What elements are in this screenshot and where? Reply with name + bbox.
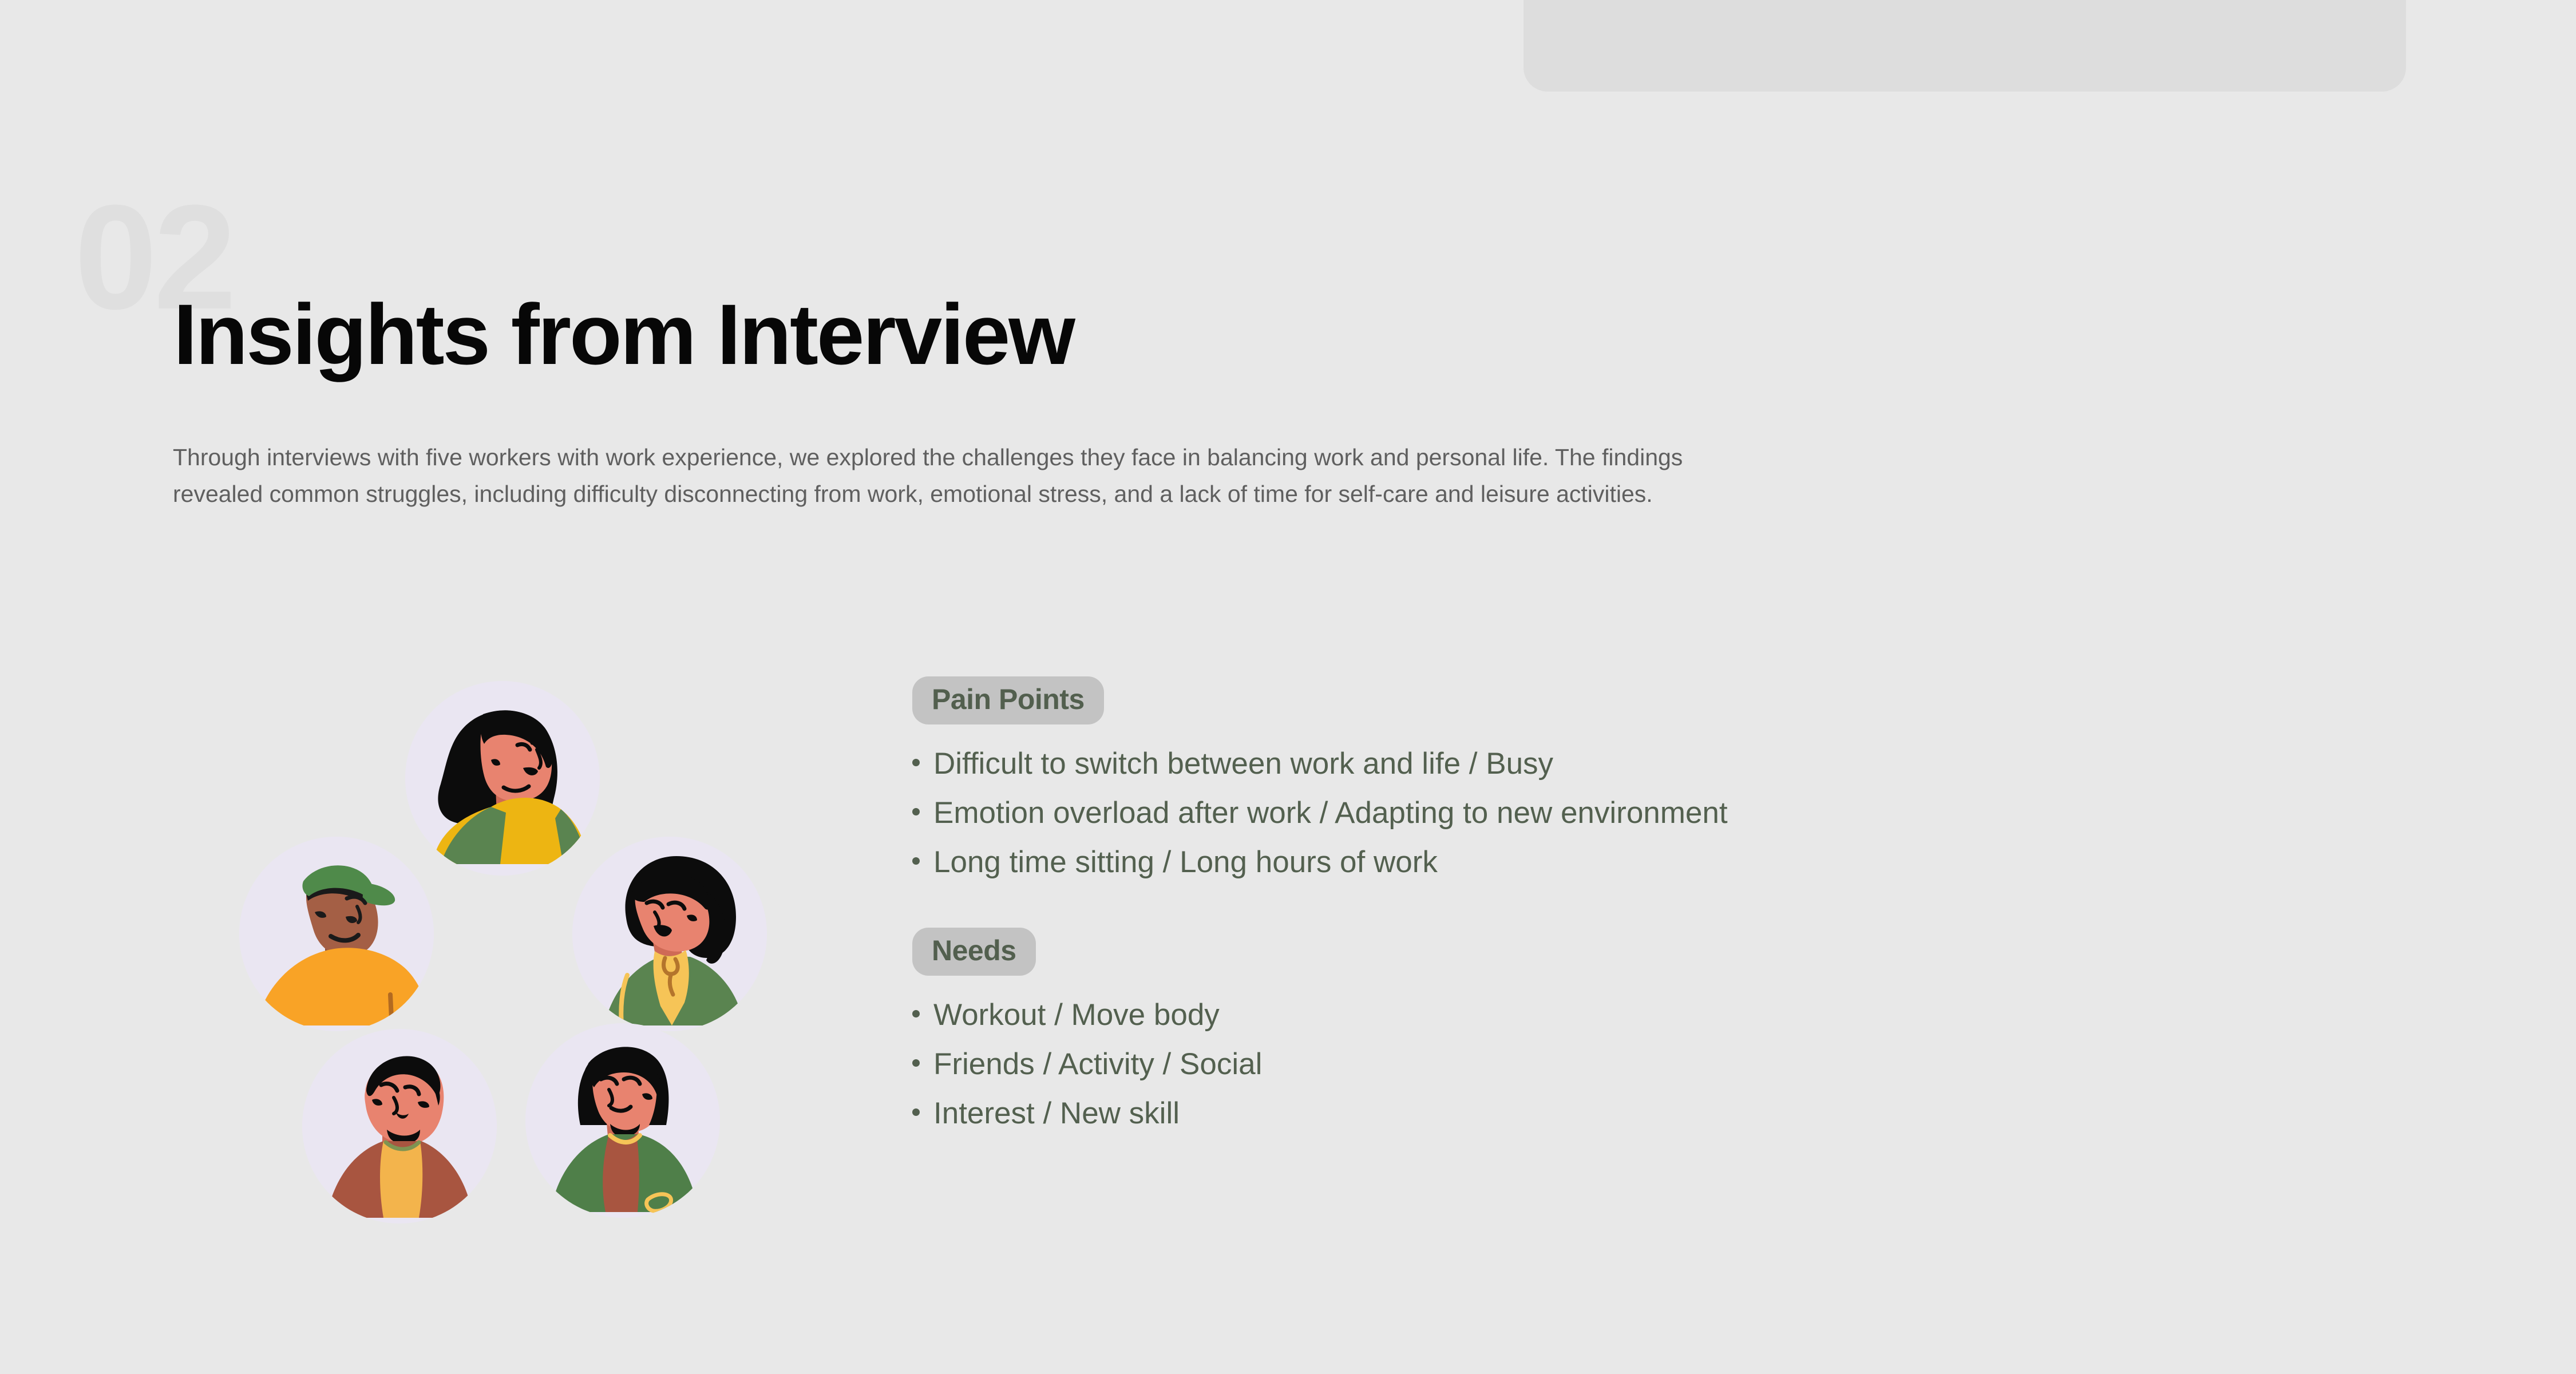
interviewee-avatar-cluster	[229, 681, 801, 1253]
avatar-woman-bob-hair	[525, 1023, 720, 1218]
list-item-label: Difficult to switch between work and lif…	[933, 749, 1553, 779]
list-item-label: Interest / New skill	[933, 1098, 1180, 1128]
group-needs: Needs Workout / Move body Friends / Acti…	[912, 928, 2458, 1128]
avatar-man-rust-jacket	[302, 1029, 497, 1223]
list-item: Friends / Activity / Social	[912, 1049, 2458, 1079]
top-right-placeholder-card	[1524, 0, 2406, 92]
intro-paragraph: Through interviews with five workers wit…	[173, 439, 2187, 512]
bullet-dot-icon	[912, 1108, 920, 1116]
bullet-dot-icon	[912, 857, 920, 865]
intro-line-1: Through interviews with five workers wit…	[173, 439, 2187, 476]
pain-points-badge: Pain Points	[912, 676, 1104, 724]
needs-badge: Needs	[912, 928, 1036, 976]
intro-line-2: revealed common struggles, including dif…	[173, 476, 2187, 513]
avatar-woman-scarf	[572, 837, 767, 1031]
list-item: Interest / New skill	[912, 1098, 2458, 1128]
bullet-dot-icon	[912, 808, 920, 815]
list-item: Emotion overload after work / Adapting t…	[912, 798, 2458, 828]
avatar-man-green-cap	[239, 837, 434, 1031]
slide-canvas: 02 Insights from Interview Through inter…	[0, 0, 2576, 1374]
list-item: Workout / Move body	[912, 1000, 2458, 1030]
group-pain-points: Pain Points Difficult to switch between …	[912, 676, 2458, 877]
list-item: Difficult to switch between work and lif…	[912, 749, 2458, 779]
needs-list: Workout / Move body Friends / Activity /…	[912, 1000, 2458, 1128]
page-title: Insights from Interview	[173, 289, 1074, 380]
list-item-label: Emotion overload after work / Adapting t…	[933, 798, 1728, 828]
pain-points-list: Difficult to switch between work and lif…	[912, 749, 2458, 877]
bullet-dot-icon	[912, 1010, 920, 1017]
list-item-label: Long time sitting / Long hours of work	[933, 847, 1438, 877]
avatar-woman-long-hair	[405, 681, 600, 876]
list-item-label: Friends / Activity / Social	[933, 1049, 1262, 1079]
list-item: Long time sitting / Long hours of work	[912, 847, 2458, 877]
bullet-dot-icon	[912, 1059, 920, 1067]
bullet-dot-icon	[912, 759, 920, 766]
list-item-label: Workout / Move body	[933, 1000, 1220, 1030]
insights-content-column: Pain Points Difficult to switch between …	[912, 676, 2458, 1147]
